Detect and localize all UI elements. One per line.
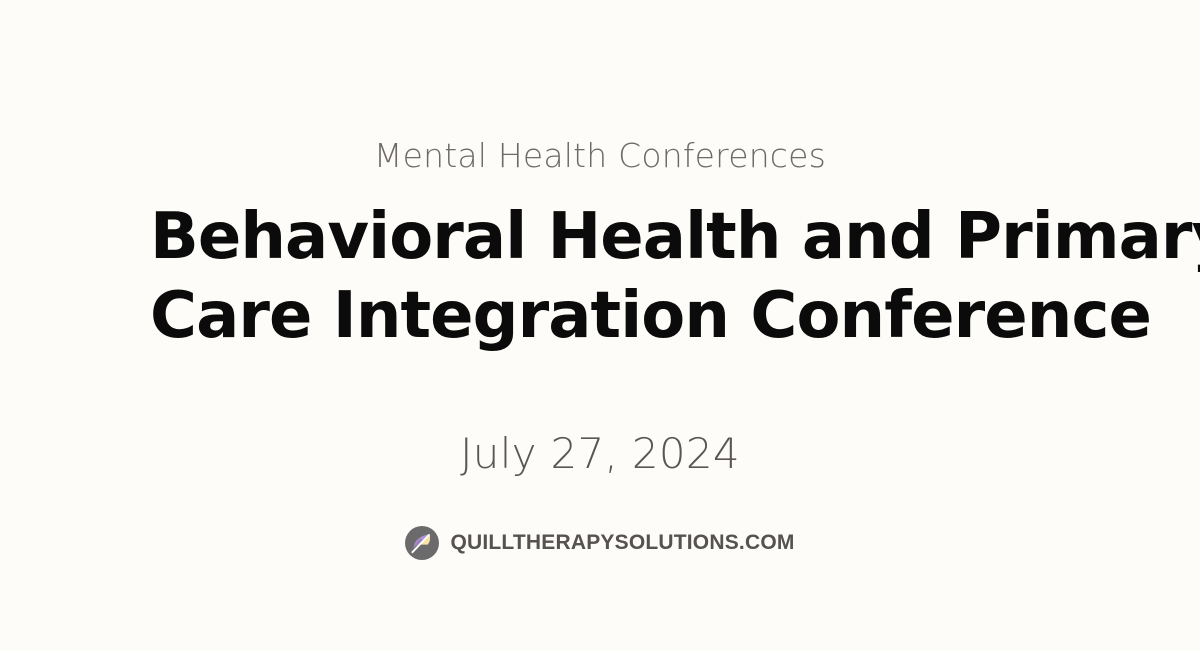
feather-quill-icon: [405, 526, 439, 560]
page-title: Behavioral Health and Primary Care Integ…: [150, 198, 1050, 357]
brand-website-label: QUILLTHERAPYSOLUTIONS.COM: [450, 532, 794, 553]
event-date: July 27, 2024: [460, 430, 740, 478]
conference-announcement-slide: Mental Health Conferences Behavioral Hea…: [0, 0, 1200, 650]
brand-footer[interactable]: QUILLTHERAPYSOLUTIONS.COM: [405, 526, 794, 560]
page-title-line-2: Care Integration Conference: [150, 277, 1050, 356]
page-title-line-1: Behavioral Health and Primary: [150, 198, 1050, 277]
eyebrow-category-label: Mental Health Conferences: [374, 137, 826, 175]
